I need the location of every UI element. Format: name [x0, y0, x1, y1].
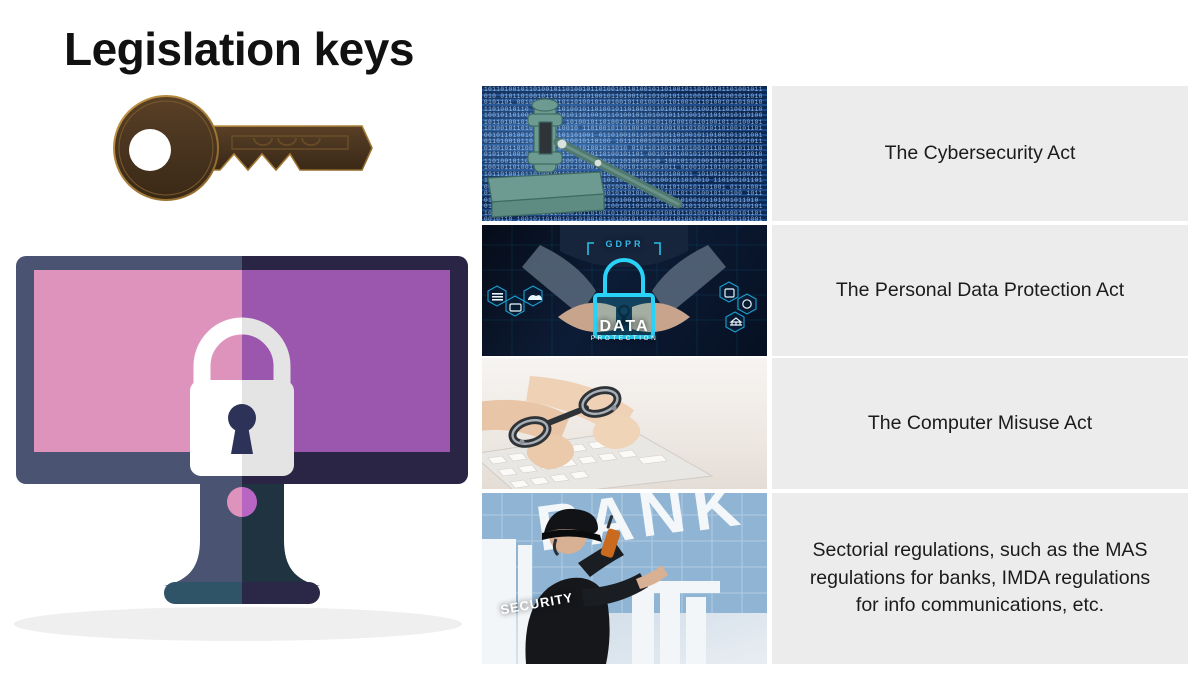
list-item-label: The Computer Misuse Act [868, 410, 1092, 438]
slide-canvas: Legislation keys [0, 0, 1200, 675]
gdpr-label: GDPR [482, 239, 767, 249]
svg-text:K: K [688, 493, 744, 545]
list-item[interactable]: 1011010010110100101101001011010010110100… [482, 86, 1188, 221]
legislation-list: 1011010010110100101101001011010010110100… [482, 86, 1188, 664]
monitor-with-padlock [12, 252, 472, 652]
hands-holding-data-padlock-image: GDPR DATA PROTECTION [482, 225, 767, 356]
data-label: DATA [482, 318, 767, 336]
handcuffed-hands-on-keyboard-image [482, 358, 767, 489]
list-item[interactable]: The Computer Misuse Act [482, 358, 1188, 489]
protection-label: PROTECTION [482, 335, 767, 342]
list-item-panel: Sectorial regulations, such as the MAS r… [772, 493, 1188, 664]
list-item[interactable]: GDPR DATA PROTECTION The Personal Data P… [482, 225, 1188, 356]
page-title: Legislation keys [64, 24, 414, 75]
list-item-panel: The Personal Data Protection Act [772, 225, 1188, 356]
list-item-label: Sectorial regulations, such as the MAS r… [800, 537, 1160, 620]
svg-text:N: N [634, 493, 690, 551]
key-icon [104, 92, 374, 222]
list-item-panel: The Cybersecurity Act [772, 86, 1188, 221]
list-item-panel: The Computer Misuse Act [772, 358, 1188, 489]
list-item[interactable]: B A N K [482, 493, 1188, 664]
security-guard-bank-image: B A N K [482, 493, 767, 664]
list-item-label: The Cybersecurity Act [885, 140, 1076, 168]
list-item-label: The Personal Data Protection Act [836, 277, 1124, 305]
gavel-on-binary-code-image: 1011010010110100101101001011010010110100… [482, 86, 767, 221]
